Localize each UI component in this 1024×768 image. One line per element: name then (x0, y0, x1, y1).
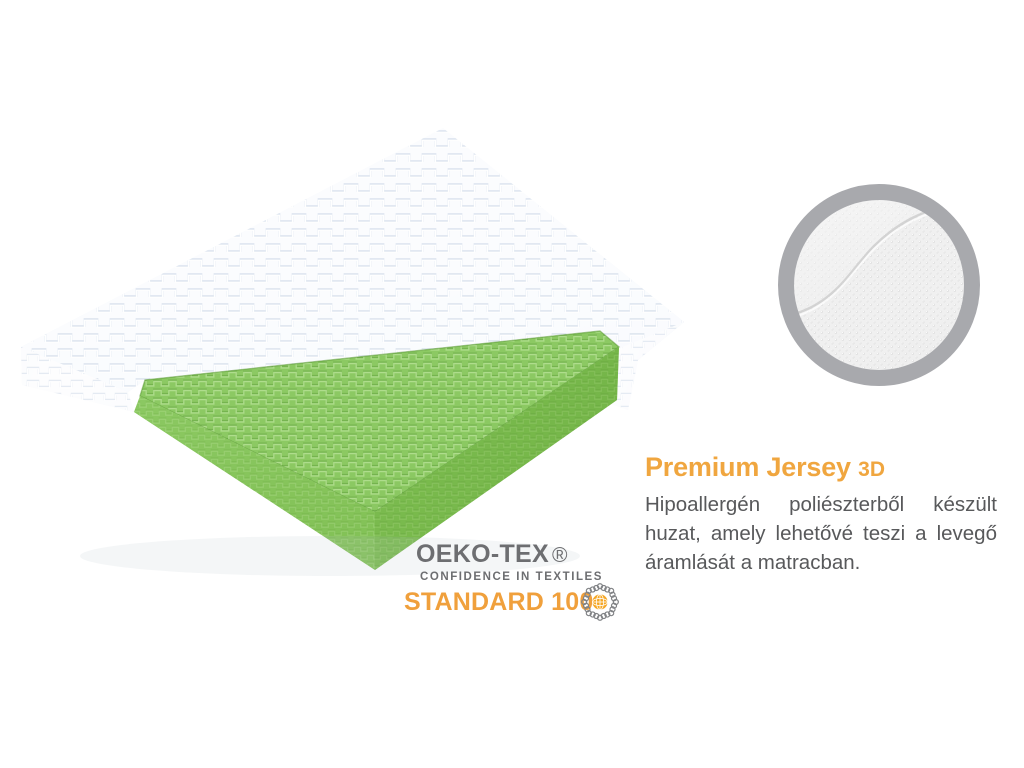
oeko-tex-badge: OEKO-TEX® CONFIDENCE IN TEXTILES STANDAR… (404, 540, 616, 622)
oeko-tex-wordmark-text: OEKO-TEX (416, 540, 549, 568)
oeko-tex-wordmark: OEKO-TEX® (416, 540, 568, 569)
oeko-tex-tagline: CONFIDENCE IN TEXTILES (420, 571, 603, 583)
oeko-tex-flower-icon (580, 582, 620, 622)
product-hero-image: OEKO-TEX® CONFIDENCE IN TEXTILES STANDAR… (0, 0, 1024, 768)
title-main-text: Premium Jersey (645, 452, 851, 482)
info-description: Hipoallergén poliészterből készült huzat… (645, 491, 997, 577)
registered-trademark-icon: ® (552, 544, 568, 567)
page-title: Premium Jersey 3D (645, 452, 997, 482)
title-suffix-3d: 3D (858, 458, 885, 481)
info-panel: Premium Jersey 3D Hipoallergén poliészte… (645, 452, 997, 577)
fabric-closeup-inset (778, 184, 980, 386)
oeko-tex-standard-label: STANDARD 100 (404, 588, 593, 617)
